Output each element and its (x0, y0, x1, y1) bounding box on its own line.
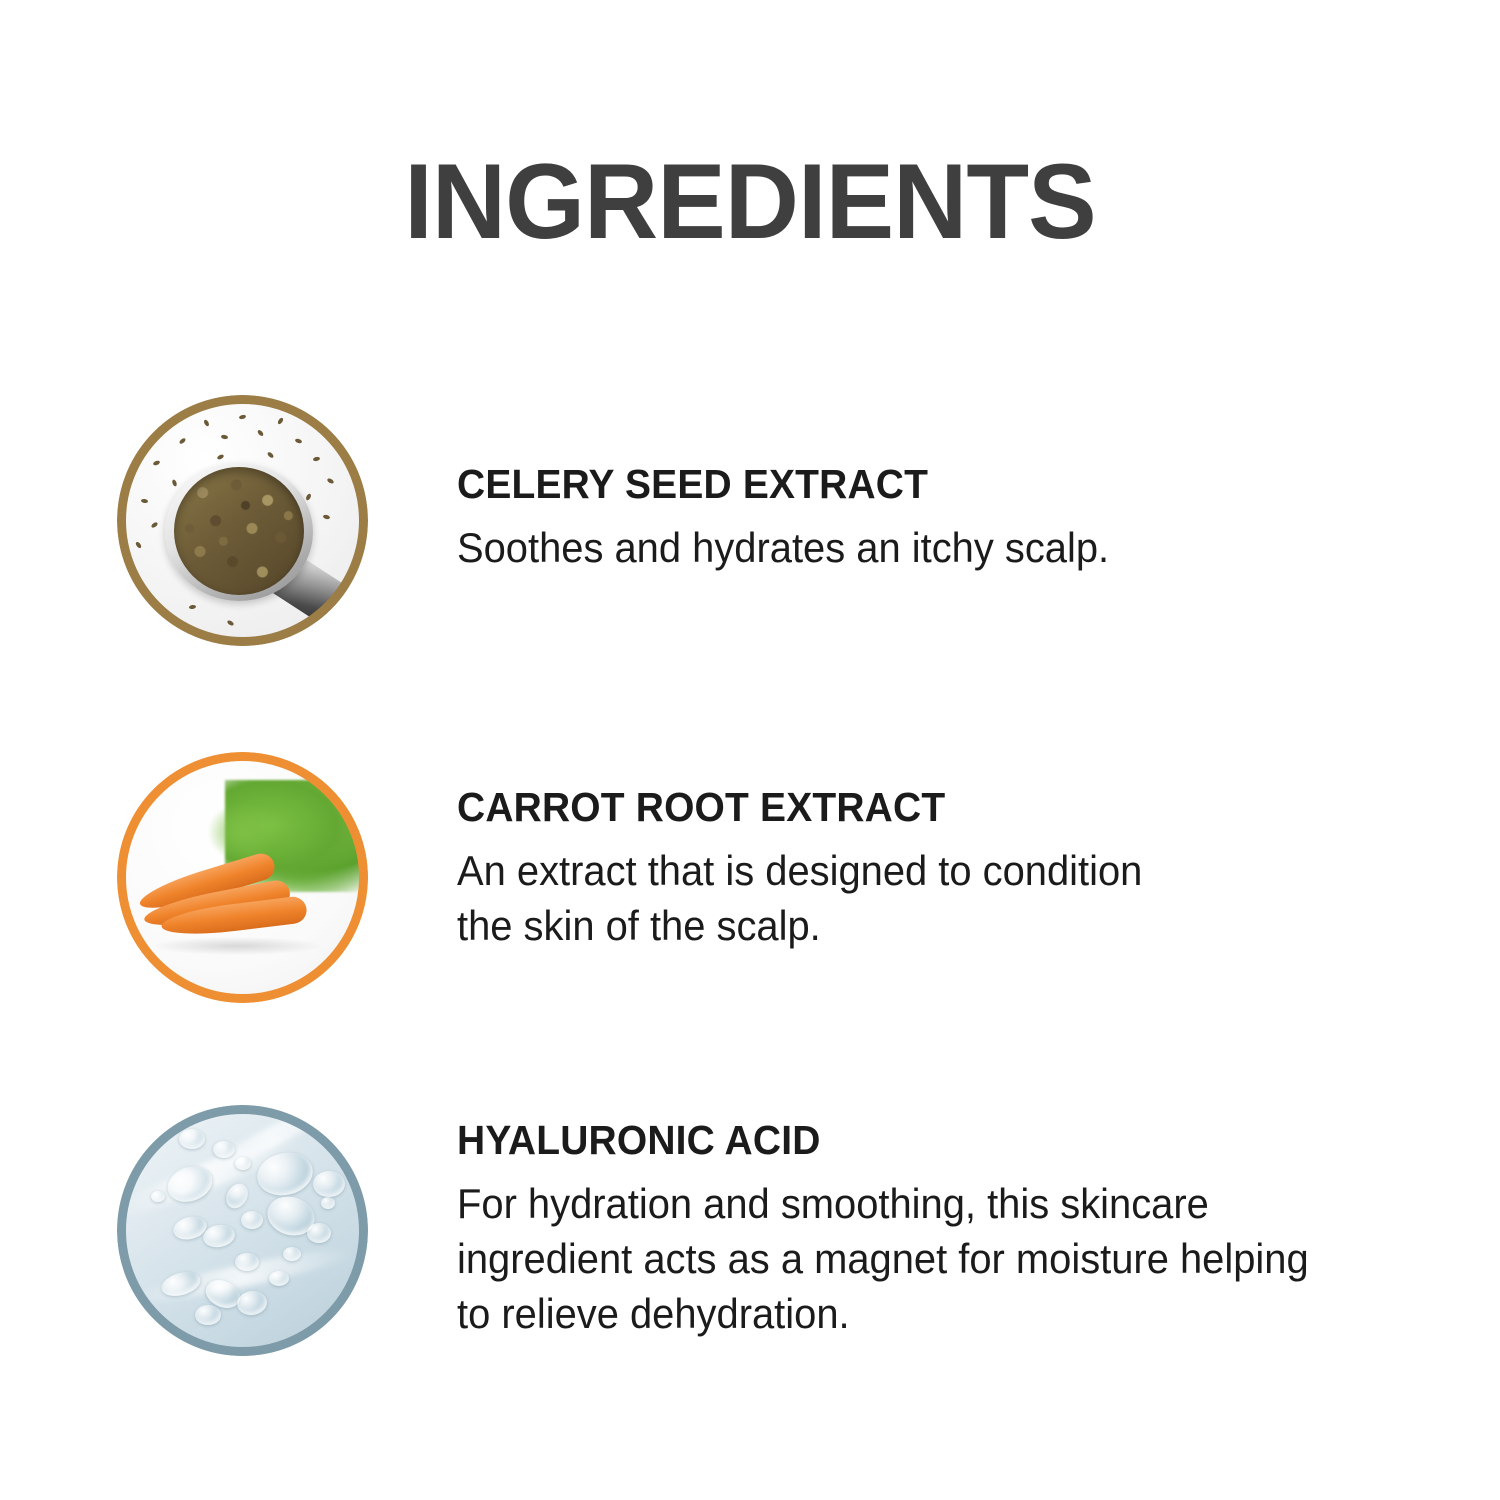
ingredient-text-carrot: CARROT ROOT EXTRACT An extract that is d… (457, 784, 1467, 953)
water-droplet (235, 1157, 251, 1170)
ingredient-description: An extract that is designed to condition… (457, 843, 1417, 953)
ingredient-text-celery: CELERY SEED EXTRACT Soothes and hydrates… (457, 461, 1467, 575)
water-droplet (151, 1191, 165, 1202)
carrot-photo (117, 752, 368, 1003)
scattered-seeds (117, 395, 368, 646)
water-droplet (213, 1141, 235, 1158)
water-droplet (179, 1129, 205, 1149)
ingredient-description: For hydration and smoothing, this skinca… (457, 1176, 1417, 1341)
water-droplet (195, 1305, 221, 1325)
celery-seed-photo (117, 395, 368, 646)
hyaluronic-acid-photo (117, 1105, 368, 1356)
ingredient-description: Soothes and hydrates an itchy scalp. (457, 520, 1417, 575)
page-title: INGREDIENTS (30, 146, 1470, 256)
ingredient-text-hyaluronic: HYALURONIC ACID For hydration and smooth… (457, 1117, 1467, 1341)
ingredient-name: CARROT ROOT EXTRACT (457, 784, 1417, 830)
ingredient-thumbnail-hyaluronic-acid (117, 1105, 368, 1356)
water-droplet (235, 1253, 259, 1271)
water-droplet (283, 1247, 301, 1261)
carrot-shadow (152, 937, 322, 955)
water-droplet (269, 1271, 289, 1286)
water-droplet (307, 1223, 331, 1243)
ingredients-infographic: INGREDIENTS (0, 0, 1500, 1500)
water-droplet (313, 1171, 345, 1197)
ingredient-name: HYALURONIC ACID (457, 1117, 1417, 1163)
ingredient-thumbnail-carrot-root (117, 752, 368, 1003)
ingredient-thumbnail-celery-seed (117, 395, 368, 646)
ingredient-name: CELERY SEED EXTRACT (457, 461, 1417, 507)
water-droplet (321, 1197, 335, 1209)
water-droplet (241, 1211, 263, 1229)
